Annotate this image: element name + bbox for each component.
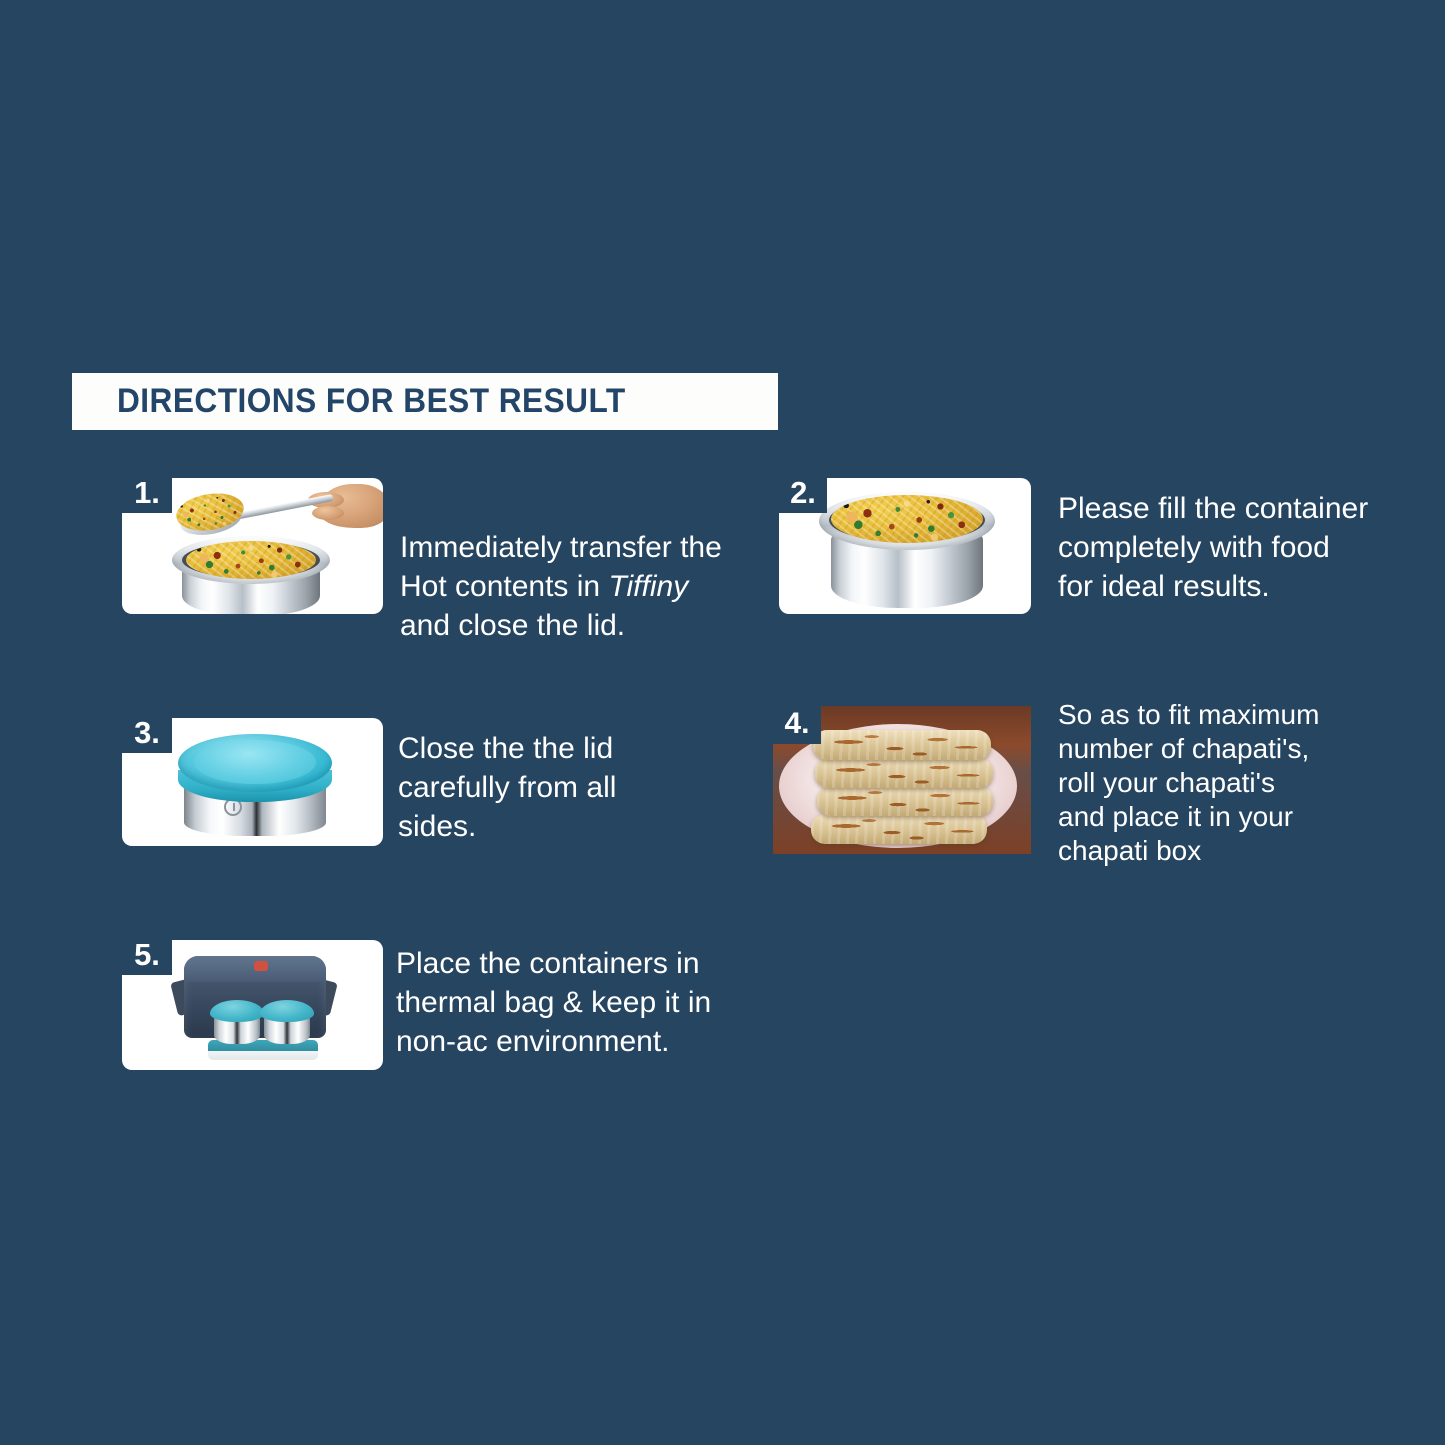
step-4-number-badge: 4. xyxy=(773,706,821,744)
rice-on-spoon xyxy=(174,489,247,535)
step-1-text: Immediately transfer the Hot contents in… xyxy=(400,489,750,645)
chapati-roll xyxy=(811,814,987,844)
step-4-text: So as to fit maximum number of chapati's… xyxy=(1058,698,1398,868)
step-5-number-badge: 5. xyxy=(122,935,172,975)
step-1-text-part2: and close the lid. xyxy=(400,609,625,642)
bag-brand-badge xyxy=(254,961,268,971)
rice-in-bowl xyxy=(831,495,983,543)
mini-container-lid xyxy=(260,1000,314,1022)
rice-in-bowl xyxy=(186,541,316,579)
step-1-number: 1. xyxy=(134,477,160,508)
step-3-text: Close the the lid carefully from all sid… xyxy=(398,729,728,846)
step-5-text: Place the containers in thermal bag & ke… xyxy=(396,944,736,1061)
finger-illustration xyxy=(312,506,344,520)
page-title-banner: DIRECTIONS FOR BEST RESULT xyxy=(72,373,778,430)
step-3-number: 3. xyxy=(134,717,160,748)
step-5-number: 5. xyxy=(134,939,160,970)
mini-container-lid xyxy=(210,1000,264,1022)
step-1-text-emphasis: Tiffiny xyxy=(608,570,688,603)
step-2-number-badge: 2. xyxy=(779,473,827,513)
step-3-number-badge: 3. xyxy=(122,713,172,753)
chapati-roll xyxy=(815,758,993,788)
page-title: DIRECTIONS FOR BEST RESULT xyxy=(117,382,626,421)
brand-name xyxy=(204,818,264,828)
step-2-number: 2. xyxy=(790,477,816,508)
chapati-roll xyxy=(813,730,991,760)
chapati-roll xyxy=(817,786,993,816)
step-1-number-badge: 1. xyxy=(122,473,172,513)
step-2-text: Please fill the container completely wit… xyxy=(1058,489,1398,606)
step-4-number: 4. xyxy=(784,709,809,739)
tiffin-lid-inner-ring xyxy=(194,740,316,784)
